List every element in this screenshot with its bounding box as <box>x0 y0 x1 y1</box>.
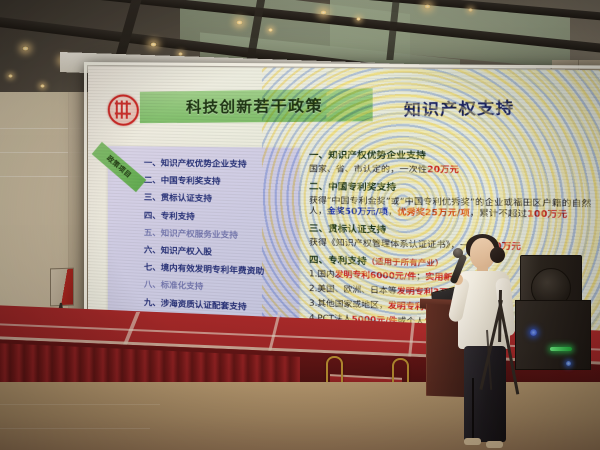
pa-speaker-small <box>50 268 74 307</box>
list-item: 七、境内有效发明专利年费资助 <box>144 261 293 279</box>
sub-item-number: 1. <box>309 269 317 279</box>
list-item: 二、中国专利奖支持 <box>144 174 293 189</box>
ceiling-spotlight <box>268 28 273 32</box>
section-heading-text: 四、专利支持 <box>309 256 367 268</box>
list-item: 一、知识产权优势企业支持 <box>144 156 293 170</box>
slide-outline-panel: 政策项目 一、知识产权优势企业支持 二、中国专利奖支持 三、贯标认证支持 四、专… <box>108 146 300 321</box>
ceiling-spotlight <box>8 74 13 78</box>
status-led-blue <box>530 329 537 336</box>
ceiling-spotlight <box>22 46 29 51</box>
body-text: ， <box>388 206 397 217</box>
body-text: ； <box>416 272 425 282</box>
floor-seam <box>0 404 160 405</box>
section-heading-1: 一、知识产权优势企业支持 <box>309 148 593 162</box>
presenter-shoe <box>464 438 481 445</box>
list-item: 三、贯标认证支持 <box>144 191 293 206</box>
body-highlight: 优秀奖25万元/项 <box>397 206 469 218</box>
ceiling-spotlight <box>468 8 473 12</box>
conference-hall-scene: 科技创新若干政策 知识产权支持 政策项目 一、知识产权优势企业支持 二、中国专利… <box>0 0 600 450</box>
body-text: 美国、欧洲、日本等 <box>317 284 396 296</box>
section-body-2: 获得“中国专利金奖”或“中国专利优秀奖”的企业或福田区户籍的自然人，金奖50万元… <box>309 195 593 220</box>
body-text: 其他国家或地区， <box>317 299 387 311</box>
list-item: 四、专利支持 <box>144 209 293 225</box>
ceiling-spotlight <box>356 17 361 21</box>
sub-item-number: 3. <box>309 299 317 309</box>
ceiling-spotlight <box>40 84 45 88</box>
outline-ribbon: 政策项目 <box>92 142 147 192</box>
status-led-green <box>550 347 572 351</box>
ceiling-spotlight <box>424 4 431 9</box>
section-body-1: 国家、省、市认定的，一次性20万元 <box>309 163 593 175</box>
list-item: 八、标准化支持 <box>144 278 293 296</box>
sub-item-number: 2. <box>309 284 317 294</box>
body-highlight: 100万元 <box>527 208 567 220</box>
section-heading-2: 二、中国专利奖支持 <box>309 180 593 195</box>
slide-title-banner: 科技创新若干政策 <box>140 88 373 123</box>
ceiling-spotlight <box>320 10 327 15</box>
floor-seam <box>0 428 150 429</box>
slide-title-text: 科技创新若干政策 <box>186 94 323 117</box>
presenter-leg-split <box>472 378 474 440</box>
outline-list: 一、知识产权优势企业支持 二、中国专利奖支持 三、贯标认证支持 四、专利支持 五… <box>144 156 293 319</box>
seal-logo-icon <box>108 94 139 126</box>
list-item: 九、涉海资质认证配套支持 <box>144 296 293 315</box>
list-item: 五、知识产权服务业支持 <box>144 226 293 242</box>
list-item: 六、知识产权入股 <box>144 243 293 260</box>
outline-ribbon-label: 政策项目 <box>104 153 133 180</box>
amplifier-rack <box>515 300 591 370</box>
body-text: 国家、省、市认定的，一次性 <box>309 163 427 174</box>
body-highlight: 发明专利6000元/件 <box>335 270 416 282</box>
status-led-blue <box>566 361 571 366</box>
presenter-shoe <box>486 441 503 448</box>
ceiling-spotlight <box>236 20 243 25</box>
slide-section-title: 知识产权支持 <box>404 96 514 121</box>
body-highlight: 20万元 <box>427 164 459 175</box>
body-text: ，累计不超过 <box>470 207 527 219</box>
section-heading-note: （适用于所有产业） <box>367 257 444 268</box>
body-text: 国内 <box>317 270 334 280</box>
presenter-hair-bun <box>490 247 505 263</box>
ceiling-spotlight <box>150 42 157 47</box>
body-highlight: 金奖50万元/项 <box>327 206 388 217</box>
